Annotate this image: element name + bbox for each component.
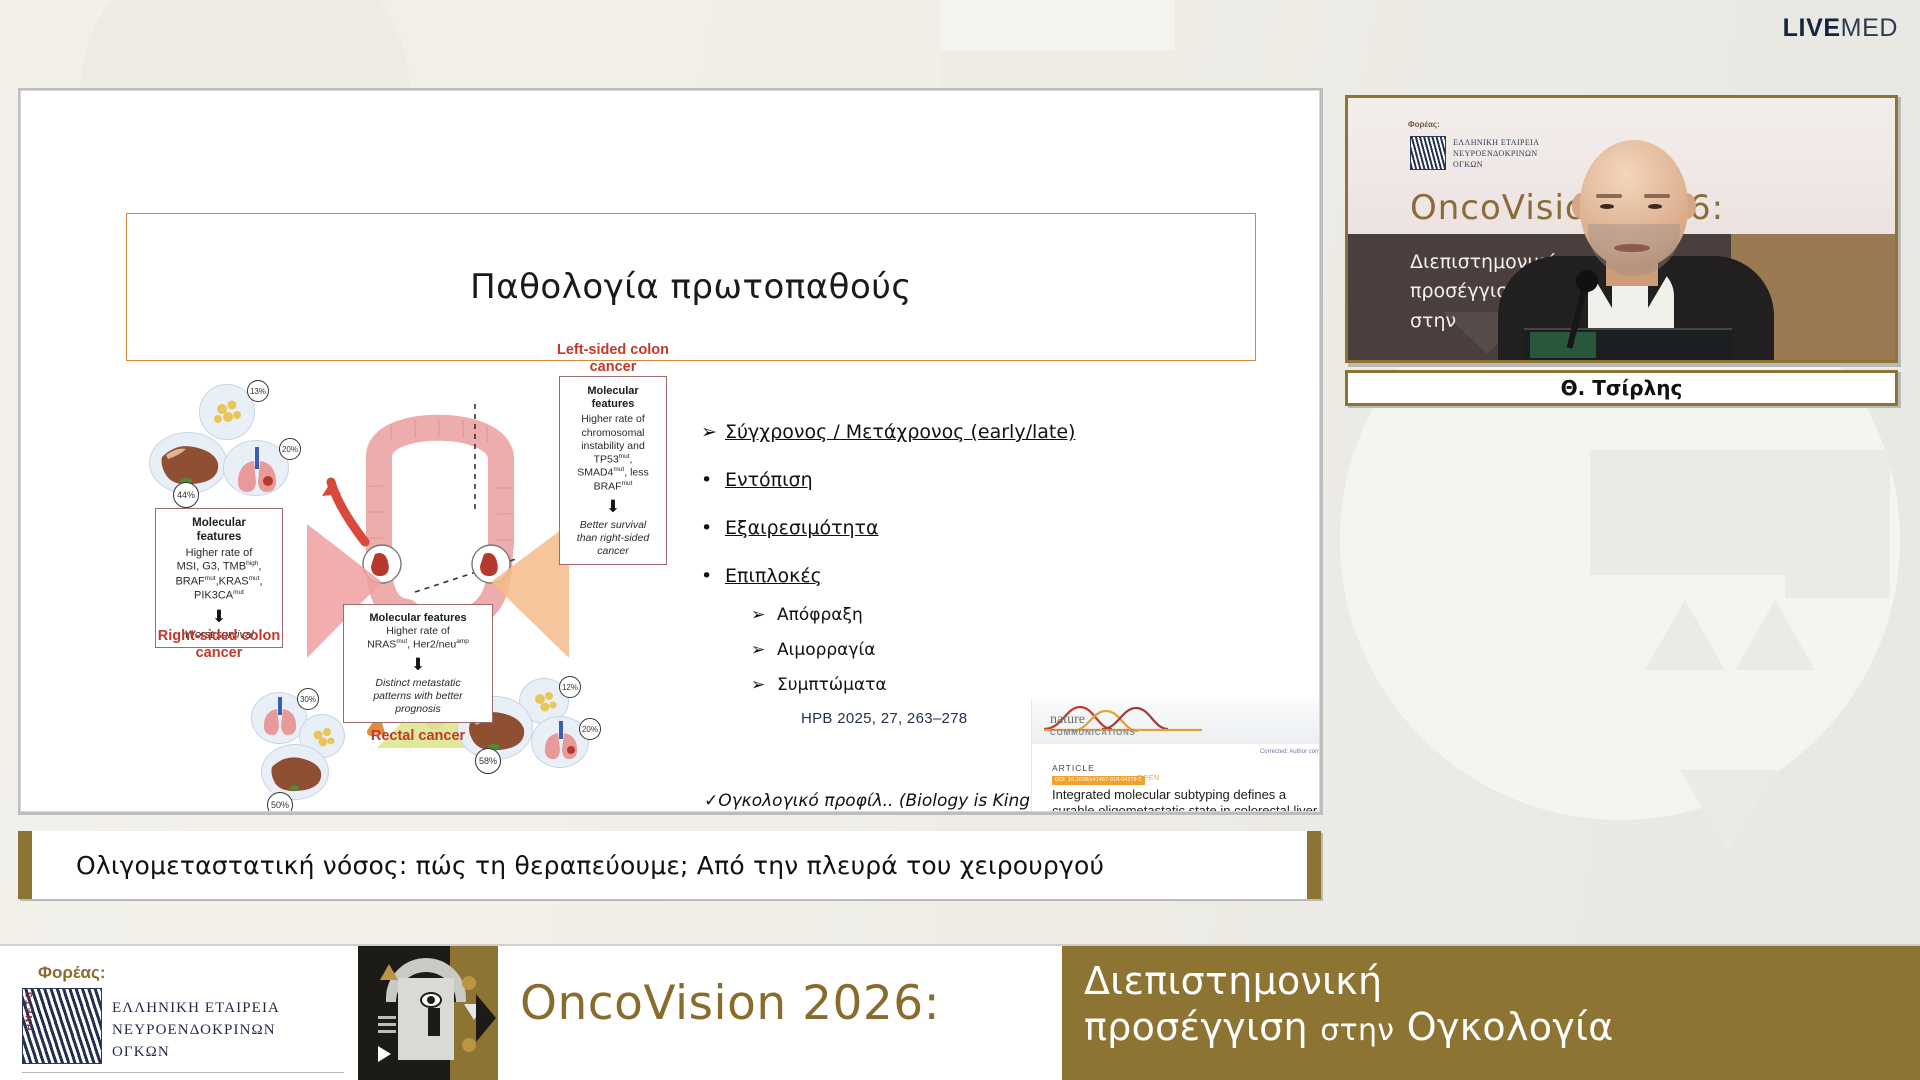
bullet-dot-icon: • (701, 517, 725, 539)
bullet-arrow-icon: ➢ (751, 640, 777, 660)
bullet-dot-icon: • (701, 469, 725, 491)
bullet-item: • Επιπλοκές (701, 565, 1131, 587)
watermark-triangle-down (1680, 770, 1776, 852)
molecular-box-body: Higher rate ofMSI, G3, TMBhigh,BRAFmut,K… (161, 547, 277, 604)
molecular-box-header: Molecular features (349, 612, 487, 624)
pct-badge: 30% (297, 688, 319, 710)
footer-foreas-label: Φορέας: (38, 963, 105, 983)
hnets-vertical-text: HNETS (24, 990, 34, 1031)
label-right-sided-colon-cancer: Right-sided coloncancer (155, 628, 283, 661)
artwork-chevron (476, 994, 496, 1042)
bullet-subitem: ➢ Απόφραξη (751, 605, 1131, 625)
label-left-sided-colon-cancer: Left-sided coloncancer (551, 342, 675, 375)
nature-article-kind: ARTICLE (1052, 763, 1095, 773)
hnets-zebra-logo (22, 988, 102, 1064)
watermark-triangle-up-2 (1735, 600, 1815, 670)
molecular-box-outcome: Distinct metastaticpatterns with betterp… (349, 677, 487, 716)
nature-logo-text: nature (1050, 713, 1085, 727)
bullet-text: Αιμορραγία (777, 640, 875, 660)
speaker-eye-right (1648, 204, 1662, 209)
pct-badge: 13% (247, 380, 269, 402)
speaker-eye-left (1600, 204, 1614, 209)
molecular-box-body: Higher rate ofchromosomalinstability and… (565, 413, 661, 493)
nature-logo-subtext: COMMUNICATIONS (1050, 728, 1136, 737)
watermark-triangle-up-1 (1645, 600, 1725, 670)
bullet-subitem: ➢ Αιμορραγία (751, 640, 1131, 660)
livemed-med-text: MED (1841, 14, 1898, 42)
screen: LIVEMED Παθολογία πρωτοπαθούς (0, 0, 1920, 1080)
molecular-box-outcome: Better survivalthan right-sidedcancer (565, 519, 661, 558)
footer-tagline-panel: Διεπιστημονική προσέγγιση στην Ογκολογία (1062, 946, 1920, 1080)
footer-tagline-stin: στην (1320, 1013, 1394, 1048)
speaker-brow-left (1596, 194, 1622, 198)
bullet-text: Επιπλοκές (725, 565, 822, 587)
footer-event-title: OncoVision 2026: (520, 976, 940, 1031)
talk-title-bar: Ολιγομεταστατική νόσος: πώς τη θεραπεύου… (18, 831, 1321, 899)
nature-masthead: nature COMMUNICATIONS (1032, 699, 1320, 744)
footer-tagline-line2: προσέγγιση στην Ογκολογία (1084, 1004, 1920, 1050)
artwork-face (398, 978, 454, 1060)
nature-communications-thumbnail: nature COMMUNICATIONS Corrected: Author … (1031, 699, 1320, 812)
bullet-text: Εντόπιση (725, 469, 813, 491)
artwork-bars (378, 1016, 396, 1019)
artwork-triangle-gold (380, 964, 398, 980)
livemed-live-text: LIVE (1783, 14, 1841, 42)
speaker-video-panel[interactable]: Φορέας: ΕΛΛΗΝΙΚΗ ΕΤΑΙΡΕΙΑΝΕΥΡΟΕΝΔΟΚΡΙΝΩΝ… (1345, 95, 1898, 363)
footer-branding-bar: Φορέας: HNETS ΕΛΛΗΝΙΚΗ ΕΤΑΙΡΕΙΑ ΝΕΥΡΟΕΝΔ… (0, 944, 1920, 1080)
livemed-logo: LIVEMED (1783, 16, 1898, 41)
society-line-2: ΝΕΥΡΟΕΝΔΟΚΡΙΝΩΝ (112, 1022, 276, 1038)
footer-society-name: ΕΛΛΗΝΙΚΗ ΕΤΑΙΡΕΙΑ ΝΕΥΡΟΕΝΔΟΚΡΙΝΩΝ ΟΓΚΩΝ (112, 998, 280, 1063)
video-foreas-label: Φορέας: (1408, 120, 1440, 129)
artwork-dot-bottom (462, 1038, 476, 1052)
down-arrow-icon: ⬇ (161, 608, 277, 625)
down-arrow-icon: ⬇ (565, 498, 661, 515)
footer-tagline-ogkologia: Ογκολογία (1407, 1005, 1614, 1049)
slide-title: Παθολογία πρωτοπαθούς (470, 267, 912, 307)
artwork-dot-top (462, 976, 476, 990)
laptop-screen-glow (1530, 332, 1596, 358)
speaker-brow-right (1644, 194, 1670, 198)
bullet-dot-icon: • (701, 565, 725, 587)
video-society-name: ΕΛΛΗΝΙΚΗ ΕΤΑΙΡΕΙΑΝΕΥΡΟΕΝΔΟΚΡΙΝΩΝΟΓΚΩΝ (1453, 138, 1539, 170)
bullet-arrow-icon: ➢ (751, 605, 777, 625)
bullet-text: Εξαιρεσιμότητα (725, 517, 879, 539)
bullet-item: ➢ Σύγχρονος / Μετάχρονος (early/late) (701, 421, 1131, 443)
pct-badge: 58% (475, 748, 501, 774)
molecular-box-header: Molecularfeatures (565, 385, 661, 411)
pct-badge: 50% (267, 792, 293, 812)
pct-badge: 20% (579, 718, 601, 740)
microphone-head (1576, 270, 1598, 292)
down-arrow-icon: ⬇ (349, 656, 487, 673)
slide-title-box: Παθολογία πρωτοπαθούς (126, 213, 1256, 361)
artwork-nose (428, 1008, 440, 1036)
watermark-rect-b (1785, 450, 1890, 598)
society-line-1: ΕΛΛΗΝΙΚΗ ΕΤΑΙΡΕΙΑ (112, 1000, 280, 1016)
label-rectal-cancer: Rectal cancer (343, 728, 493, 745)
nature-correction-note: Corrected: Author correction (1260, 749, 1320, 755)
bullet-text: Σύγχρονος / Μετάχρονος (early/late) (725, 421, 1075, 443)
nature-article-title: Integrated molecular subtyping defines a… (1052, 787, 1320, 812)
event-artwork-logo (358, 946, 498, 1080)
molecular-box-left-sided: Molecularfeatures Higher rate ofchromoso… (559, 376, 667, 565)
bullet-arrow-icon: ➢ (751, 675, 777, 695)
watermark-rect-a (1590, 450, 1790, 575)
bullet-list: ➢ Σύγχρονος / Μετάχρονος (early/late) • … (701, 421, 1131, 727)
society-line-3: ΟΓΚΩΝ (112, 1044, 170, 1060)
bullet-subitem: ➢ Συμπτώματα (751, 675, 1131, 695)
bullet-arrow-icon: ➢ (701, 421, 725, 443)
pct-badge: 44% (173, 482, 199, 508)
pct-badge: 20% (279, 438, 301, 460)
bullet-item: • Εντόπιση (701, 469, 1131, 491)
molecular-box-rectal: Molecular features Higher rate ofNRASmut… (343, 604, 493, 723)
nature-open-access-badge: OPEN (1137, 775, 1160, 782)
speaker-name: Θ. Τσίρλης (1561, 376, 1683, 400)
pct-badge: 12% (559, 676, 581, 698)
presentation-slide[interactable]: Παθολογία πρωτοπαθούς (20, 90, 1320, 812)
organ-liver-icon (261, 744, 329, 800)
artwork-play-triangle (378, 1046, 391, 1062)
nature-doi-badge: DOI: 10.1038/s41467-018-04278-6 (1052, 776, 1145, 785)
speaker-mouth (1614, 244, 1650, 252)
bullet-item: • Εξαιρεσιμότητα (701, 517, 1131, 539)
artwork-pupil (427, 996, 435, 1004)
footer-tagline-line1: Διεπιστημονική (1084, 958, 1920, 1004)
molecular-box-right-sided: Molecularfeatures Higher rate ofMSI, G3,… (155, 508, 283, 648)
video-hnets-zebra-logo (1410, 136, 1446, 170)
colon-cancer-figure: 13% 44% 20% 30% 2% 50% (139, 396, 699, 812)
molecular-box-header: Molecularfeatures (161, 517, 277, 545)
footer-divider (22, 1072, 344, 1073)
bullet-text: Απόφραξη (777, 605, 863, 625)
background-top-rect (940, 0, 1175, 50)
footer-tagline-prosengisi: προσέγγιση (1084, 1005, 1308, 1049)
molecular-box-body: Higher rate ofNRASmut, Her2/neuamp (349, 625, 487, 652)
speaker-name-bar: Θ. Τσίρλης (1345, 370, 1898, 406)
talk-title: Ολιγομεταστατική νόσος: πώς τη θεραπεύου… (32, 851, 1104, 880)
bullet-text: Συμπτώματα (777, 675, 887, 695)
